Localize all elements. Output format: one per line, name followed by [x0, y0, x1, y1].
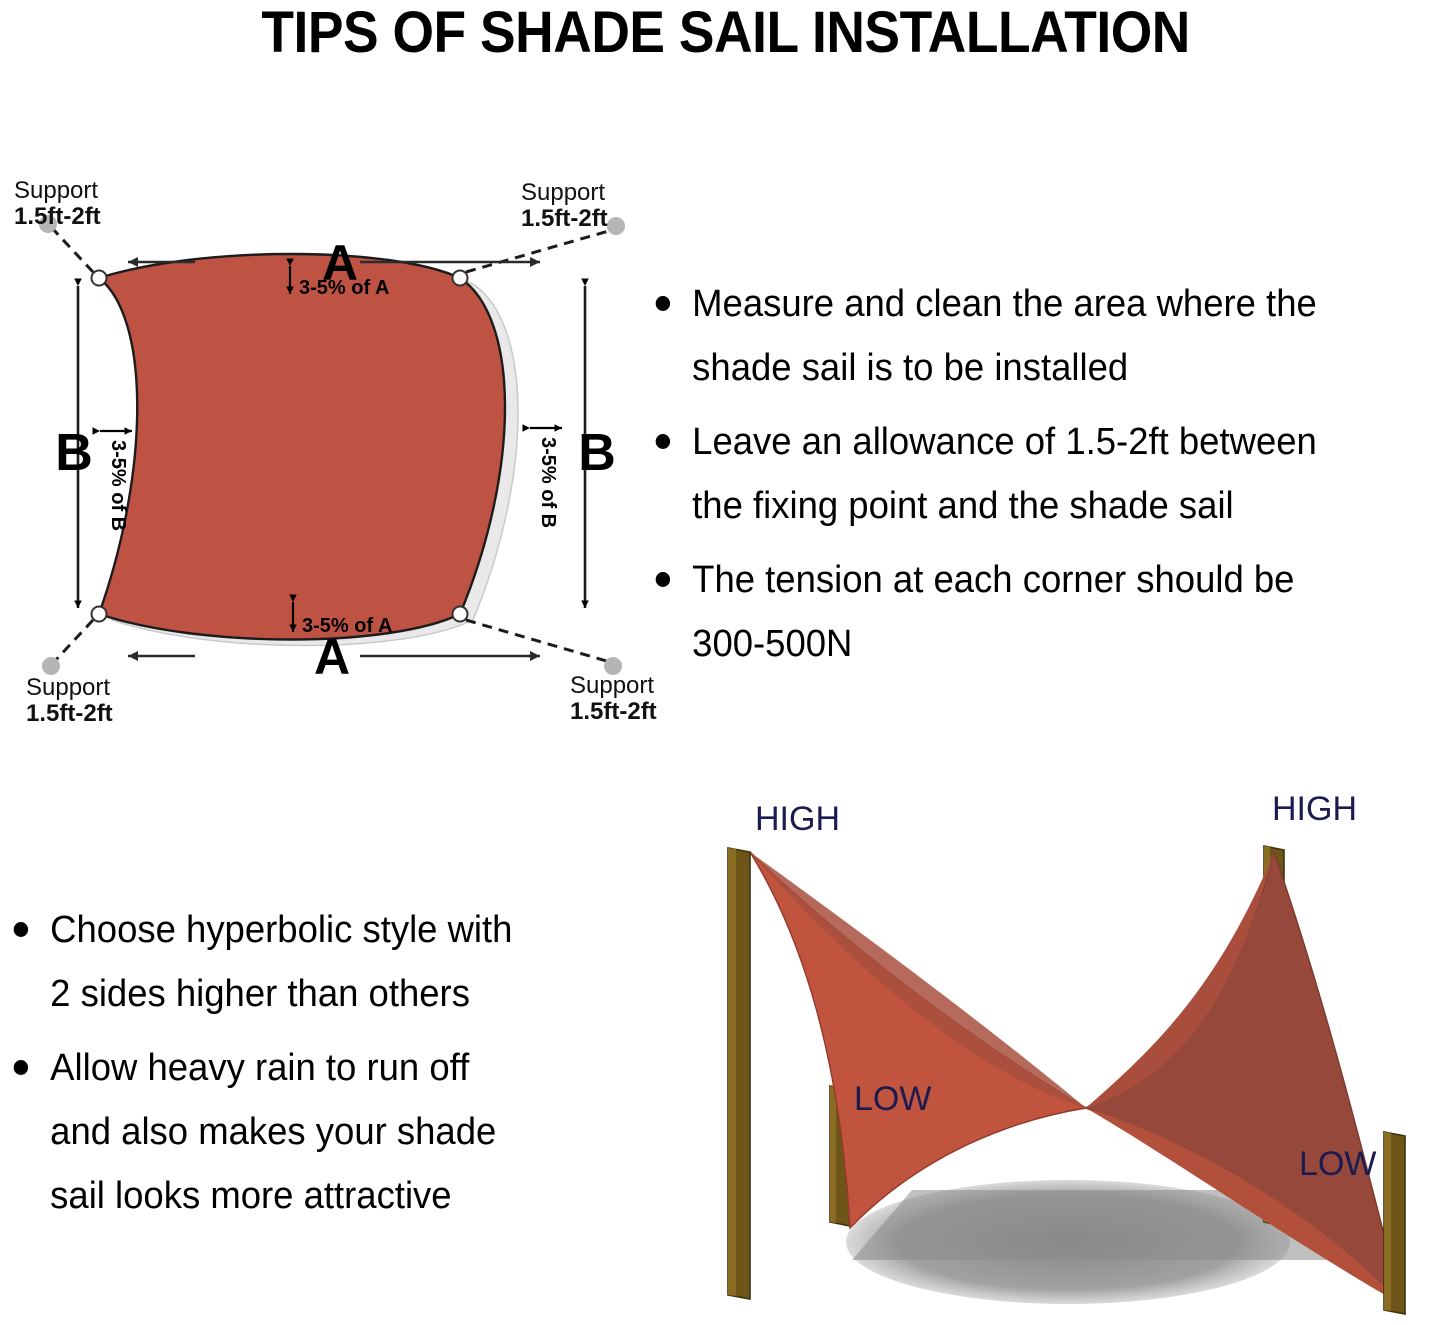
label-low-right: LOW — [1299, 1145, 1376, 1183]
support-label-bottom-left: Support 1.5ft-2ft — [26, 674, 113, 727]
support-dot-top-right — [607, 217, 625, 235]
list-item: Leave an allowance of 1.5-2ft between th… — [648, 410, 1422, 538]
label-high-right: HIGH — [1272, 790, 1357, 828]
tip-line: shade sail is to be installed — [692, 336, 1422, 400]
list-item: Measure and clean the area where the sha… — [648, 272, 1422, 400]
support-label-top-left-line2: 1.5ft-2ft — [14, 203, 101, 230]
dim-label-b-left: B — [55, 424, 93, 482]
post-high-left-highlight — [728, 848, 736, 1296]
label-low-left: LOW — [854, 1080, 931, 1118]
support-label-top-right-line1: Support — [521, 179, 605, 206]
grommet-bottom-right — [453, 607, 468, 622]
style-tips-list: Choose hyperbolic style with 2 sides hig… — [6, 898, 636, 1238]
dim-label-b-right: B — [578, 424, 616, 482]
style-tip-line: sail looks more attractive — [50, 1164, 611, 1228]
bullet-dot-icon — [656, 572, 670, 587]
support-label-top-right-line2: 1.5ft-2ft — [521, 205, 608, 232]
style-tip-line: Allow heavy rain to run off — [50, 1036, 611, 1100]
rectangular-sail-diagram: A A B B 3-5% of A 3-5% of A 3-5% of B 3-… — [0, 150, 660, 750]
style-tip-line: 2 sides higher than others — [50, 962, 611, 1026]
list-item: The tension at each corner should be 300… — [648, 548, 1422, 676]
support-label-top-left-line1: Support — [14, 177, 98, 204]
list-item: Allow heavy rain to run off and also mak… — [6, 1036, 611, 1228]
sag-label-bottom: 3-5% of A — [302, 615, 392, 637]
bullet-dot-icon — [14, 922, 28, 937]
grommet-top-left — [92, 271, 107, 286]
bullet-dot-icon — [14, 1060, 28, 1075]
tether-bottom-left — [54, 620, 93, 662]
support-label-bottom-left-line2: 1.5ft-2ft — [26, 700, 113, 727]
style-tip-line: and also makes your shade — [50, 1100, 611, 1164]
sag-label-right: 3-5% of B — [537, 437, 559, 528]
post-low-left-highlight — [830, 1086, 836, 1223]
tip-line: Measure and clean the area where the — [692, 272, 1422, 336]
dim-label-a-bottom: A — [314, 629, 350, 685]
bullet-dot-icon — [656, 434, 670, 449]
page-title: TIPS OF SHADE SAIL INSTALLATION — [262, 3, 1190, 63]
style-tip-line: Choose hyperbolic style with — [50, 898, 611, 962]
tip-line: The tension at each corner should be — [692, 548, 1422, 612]
grommet-bottom-left — [92, 607, 107, 622]
hyperbolic-sail-diagram: HIGH HIGH LOW LOW — [672, 790, 1452, 1325]
tip-line: Leave an allowance of 1.5-2ft between — [692, 410, 1422, 474]
post-low-right-highlight — [1384, 1132, 1391, 1311]
support-dot-bottom-left — [42, 657, 60, 675]
support-label-bottom-right-line1: Support — [570, 672, 654, 699]
bullet-dot-icon — [656, 296, 670, 311]
shade-sail-shape — [99, 254, 505, 640]
support-label-bottom-right-line2: 1.5ft-2ft — [570, 698, 657, 725]
tether-top-right — [466, 230, 612, 272]
label-high-left: HIGH — [755, 800, 840, 838]
sail-surface-front — [750, 852, 1086, 1228]
support-label-bottom-right: Support 1.5ft-2ft — [570, 672, 657, 725]
support-label-top-left: Support 1.5ft-2ft — [14, 177, 101, 230]
support-label-bottom-left-line1: Support — [26, 674, 110, 701]
title-bar: TIPS OF SHADE SAIL INSTALLATION — [0, 0, 1452, 66]
support-label-top-right: Support 1.5ft-2ft — [521, 179, 608, 232]
list-item: Choose hyperbolic style with 2 sides hig… — [6, 898, 611, 1026]
sag-label-left: 3-5% of B — [107, 440, 129, 531]
grommet-top-right — [453, 271, 468, 286]
tip-line: 300-500N — [692, 612, 1422, 676]
sag-label-top: 3-5% of A — [299, 277, 389, 299]
tether-top-left — [52, 228, 93, 272]
tip-line: the fixing point and the shade sail — [692, 474, 1422, 538]
installation-tips-list: Measure and clean the area where the sha… — [648, 272, 1452, 686]
